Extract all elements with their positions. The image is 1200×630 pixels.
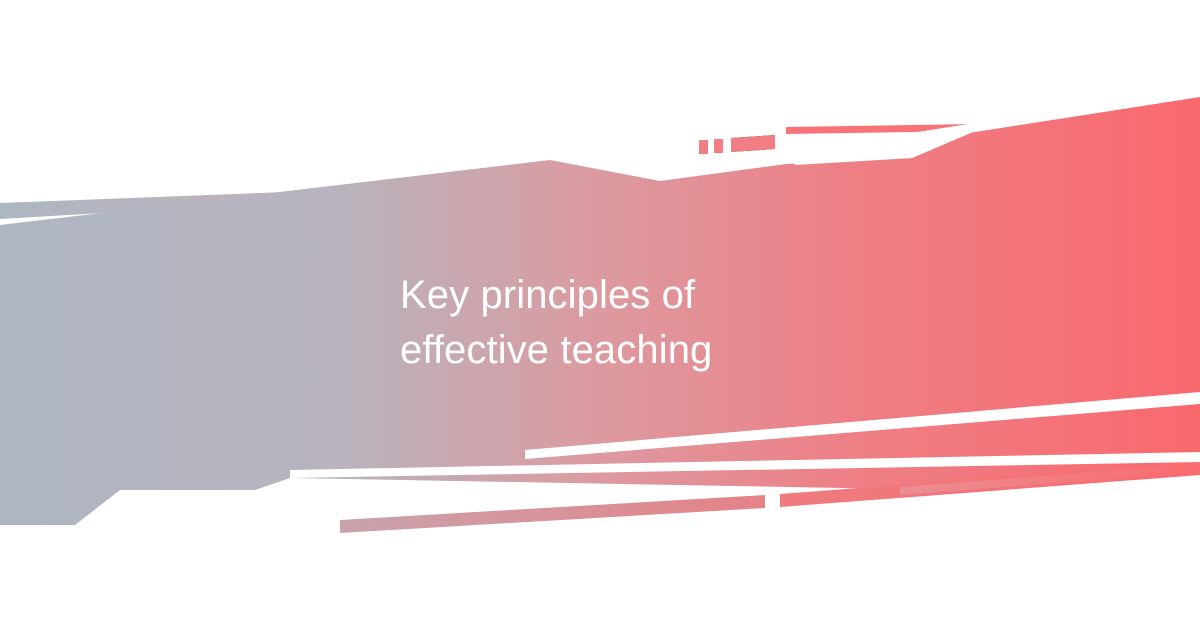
accent-bar-left xyxy=(340,495,765,533)
banner-card: Key principles of effective teaching xyxy=(0,0,1200,630)
dash-segment-1 xyxy=(699,140,708,154)
dash-segment-2 xyxy=(714,139,723,153)
banner-graphic xyxy=(0,0,1200,630)
dash-segment-3-fill xyxy=(731,135,775,152)
